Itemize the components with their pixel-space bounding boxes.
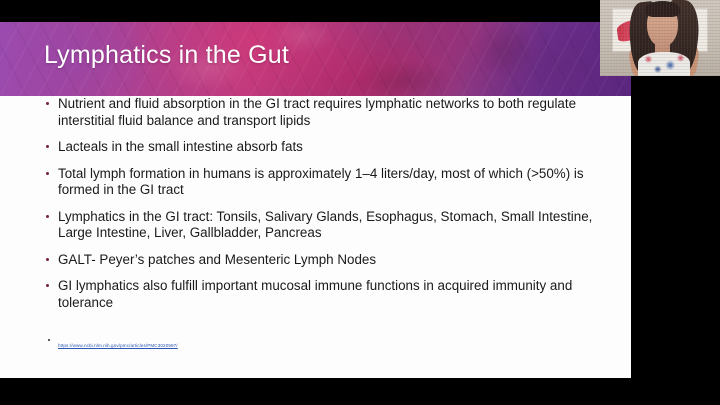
slide-title: Lymphatics in the Gut: [44, 39, 289, 71]
bullet-total-lymph-formation: Total lymph formation in humans is appro…: [0, 166, 631, 199]
source-bullet-marker-icon: [48, 339, 50, 341]
bullet-text: Total lymph formation in humans is appro…: [58, 166, 609, 199]
bullet-mucosal-immune: GI lymphatics also fulfill important muc…: [0, 278, 631, 311]
bullet-marker-icon: [46, 145, 49, 148]
bullet-marker-icon: [46, 215, 49, 218]
bullet-text: Lymphatics in the GI tract: Tonsils, Sal…: [58, 209, 609, 242]
bullet-galt: GALT- Peyer’s patches and Mesenteric Lym…: [0, 252, 631, 269]
bullet-lacteals: Lacteals in the small intestine absorb f…: [0, 139, 631, 156]
source-citation-row: https://www.ncbi.nlm.nih.gov/pmc/article…: [0, 334, 631, 352]
bullet-text: GI lymphatics also fulfill important muc…: [58, 278, 609, 311]
presenter-shirt: [638, 52, 690, 76]
bullet-text: Lacteals in the small intestine absorb f…: [58, 139, 609, 156]
presentation-screen: Lymphatics in the Gut Nutrient and fluid…: [0, 0, 720, 405]
bullet-marker-icon: [46, 102, 49, 105]
bullet-nutrient-absorption: Nutrient and fluid absorption in the GI …: [0, 96, 631, 129]
bullet-text: GALT- Peyer’s patches and Mesenteric Lym…: [58, 252, 609, 269]
bullet-marker-icon: [46, 172, 49, 175]
bullet-text: Nutrient and fluid absorption in the GI …: [58, 96, 609, 129]
presenter-hair-top: [645, 1, 680, 17]
bullet-marker-icon: [46, 284, 49, 287]
presenter-webcam[interactable]: [600, 0, 720, 76]
slide-body: Nutrient and fluid absorption in the GI …: [0, 96, 631, 378]
slide-surface: Lymphatics in the Gut Nutrient and fluid…: [0, 22, 631, 378]
bullet-gi-tract-organs: Lymphatics in the GI tract: Tonsils, Sal…: [0, 209, 631, 242]
slide-title-banner: Lymphatics in the Gut: [0, 22, 631, 96]
source-link[interactable]: https://www.ncbi.nlm.nih.gov/pmc/article…: [58, 342, 178, 349]
bullet-marker-icon: [46, 258, 49, 261]
